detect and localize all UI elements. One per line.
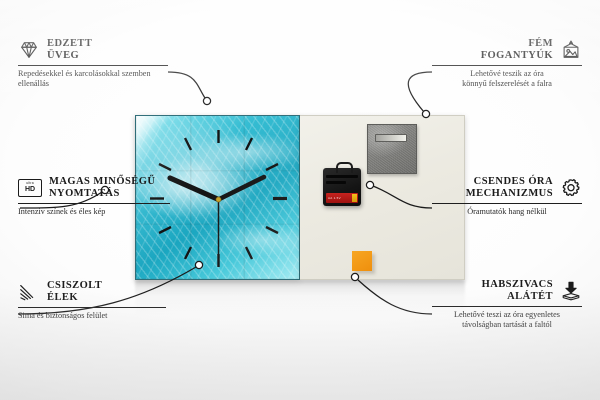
quartz-clock-mechanism: AA 1.5V <box>323 168 361 206</box>
product-composite: AA 1.5V <box>135 115 465 280</box>
callout-title: HABSZIVACSALÁTÉT <box>482 279 553 302</box>
callout-rule <box>18 65 168 66</box>
callout-subtitle: Sima és biztonságos felület <box>18 311 166 321</box>
mechanism-hanger-loop <box>336 162 353 173</box>
callout-title: EDZETTÜVEG <box>47 38 92 61</box>
callout-rule <box>18 203 170 204</box>
callout-metal-handles: FÉMFOGANTYÚK Lehetővé teszik az órakönny… <box>432 38 582 89</box>
mechanism-ridge-mid <box>326 181 346 184</box>
callout-subtitle: Repedésekkel és karcolásokkal szemben el… <box>18 69 168 89</box>
callout-high-quality-print: ultra HD MAGAS MINŐSÉGŰNYOMTATÁS Intenzí… <box>18 176 170 217</box>
callout-header: HABSZIVACSALÁTÉT <box>432 279 582 302</box>
metal-hanger-plate <box>367 124 417 174</box>
callout-tempered-glass: EDZETTÜVEG Repedésekkel és karcolásokkal… <box>18 38 168 89</box>
callout-header: EDZETTÜVEG <box>18 38 168 61</box>
polished-edges-icon <box>18 281 40 303</box>
callout-title: MAGAS MINŐSÉGŰNYOMTATÁS <box>49 176 155 199</box>
foam-pad-arrow-icon <box>560 280 582 302</box>
callout-rule <box>432 65 582 66</box>
callout-subtitle: Lehetővé teszi az óra egyenletestávolság… <box>432 310 582 330</box>
callout-subtitle: Intenzív színek és éles kép <box>18 207 170 217</box>
product-reflection <box>135 280 465 316</box>
callout-header: FÉMFOGANTYÚK <box>432 38 582 61</box>
ultra-hd-icon-small-label: ultra <box>26 182 34 185</box>
foam-spacer-pad <box>352 251 372 271</box>
diamond-icon <box>18 39 40 61</box>
ultra-hd-icon: ultra HD <box>18 179 42 197</box>
callout-rule <box>432 203 582 204</box>
callout-polished-edges: CSISZOLTÉLEK Sima és biztonságos felület <box>18 280 166 321</box>
leader-handles <box>408 72 432 112</box>
gear-icon <box>560 177 582 199</box>
battery-cell: AA 1.5V <box>326 193 358 203</box>
ultra-hd-icon-large-label: HD <box>25 186 35 193</box>
hanger-slot <box>375 134 407 142</box>
hanging-frame-icon <box>560 39 582 61</box>
callout-subtitle: Óramutatók hang nélkül <box>432 207 582 217</box>
infographic-stage: AA 1.5V <box>0 0 600 400</box>
callout-subtitle: Lehetővé teszik az órakönnyű felszerelés… <box>432 69 582 89</box>
callout-title: FÉMFOGANTYÚK <box>481 38 553 61</box>
callout-header: CSENDES ÓRAMECHANIZMUS <box>432 176 582 199</box>
callout-foam-backing: HABSZIVACSALÁTÉT Lehetővé teszi az óra e… <box>432 279 582 330</box>
battery-positive-cap <box>352 194 357 202</box>
callout-silent-mechanism: CSENDES ÓRAMECHANIZMUS Óramutatók hang n… <box>432 176 582 217</box>
callout-rule <box>18 307 166 308</box>
callout-header: CSISZOLTÉLEK <box>18 280 166 303</box>
callout-rule <box>432 306 582 307</box>
leader-dot-tempered-glass <box>203 97 210 104</box>
callout-header: ultra HD MAGAS MINŐSÉGŰNYOMTATÁS <box>18 176 170 199</box>
callout-title: CSENDES ÓRAMECHANIZMUS <box>466 176 553 199</box>
mechanism-ridge-top <box>326 175 358 178</box>
callout-title: CSISZOLTÉLEK <box>47 280 102 303</box>
leader-tempered-glass <box>168 72 205 98</box>
battery-label: AA 1.5V <box>328 196 341 200</box>
